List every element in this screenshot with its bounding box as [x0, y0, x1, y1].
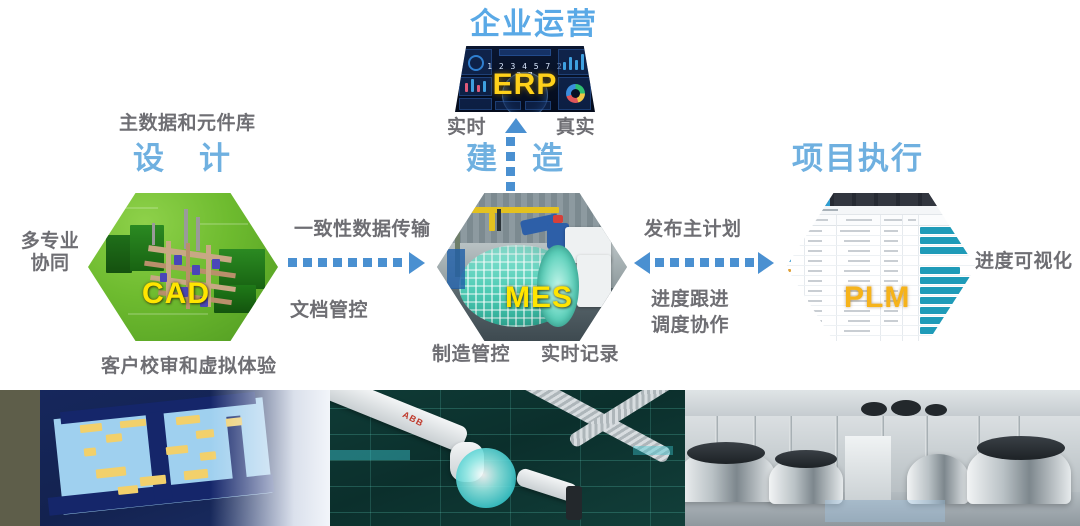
hexagon-plm: PLM	[786, 193, 976, 341]
cad-screen-glare	[210, 390, 330, 526]
erp-widget-bottom-1	[495, 101, 521, 110]
sim-highlight-bar	[330, 450, 410, 460]
label-master-data: 主数据和元件库	[119, 113, 256, 135]
label-consistent-data: 一致性数据传输	[294, 219, 431, 241]
sim-highlight-bar-right	[633, 446, 673, 455]
photo-stainless-steel-tank-workshop	[685, 390, 1080, 526]
plm-gantt-row[interactable]	[786, 266, 976, 276]
plm-gantt-row[interactable]	[786, 326, 976, 336]
label-manufacturing-control: 制造管控	[432, 344, 510, 366]
hexagon-mes: MES	[437, 193, 627, 341]
tank-3	[907, 454, 969, 504]
label-customer-review: 客户校审和虚拟体验	[101, 356, 277, 378]
heading-enterprise-ops: 企业运营	[470, 8, 598, 43]
plm-gantt-row[interactable]	[786, 236, 976, 246]
heading-project-exec: 项目执行	[792, 141, 924, 177]
plm-gantt-row[interactable]	[786, 246, 976, 256]
floor-reflection	[825, 500, 945, 522]
arrow-cad-to-mes-dots	[288, 258, 402, 267]
hex-label-mes: MES	[505, 281, 573, 315]
label-progress-followup: 进度跟进调度协作	[651, 287, 729, 338]
hexagon-cad: CAD	[88, 193, 278, 341]
erp-title-strip	[499, 49, 551, 56]
arrow-mes-plm-dots	[655, 258, 754, 267]
label-doc-control: 文档管控	[290, 300, 368, 322]
control-cabinet	[845, 436, 891, 500]
photo-plant-layout-cad-screen	[0, 390, 330, 526]
photo-strip: ABB	[0, 390, 1080, 526]
plm-column-header	[786, 215, 976, 226]
arrow-up-to-erp	[505, 118, 527, 133]
label-realtime-record: 实时记录	[541, 344, 619, 366]
erp-widget-bottom-2	[525, 101, 551, 110]
plm-tab-4[interactable]	[878, 193, 896, 206]
robot-nozzle	[566, 486, 582, 520]
arrow-mes-to-plm-head	[758, 252, 774, 274]
plm-gantt-row[interactable]	[786, 316, 976, 326]
label-publish-master-plan: 发布主计划	[644, 219, 742, 241]
label-realtime-erp: 实时	[447, 117, 486, 139]
label-progress-visual: 进度可视化	[975, 251, 1073, 273]
photo-abb-robot-arm-simulation: ABB	[330, 390, 685, 526]
label-authentic-erp: 真实	[556, 117, 595, 139]
hex-label-cad: CAD	[142, 277, 210, 311]
arrow-plm-to-mes-head	[634, 252, 650, 274]
plm-breadcrumb-bar	[786, 206, 976, 215]
plm-tab-5[interactable]	[900, 193, 918, 206]
plm-tab-active[interactable]	[812, 193, 830, 206]
plm-tab-3[interactable]	[856, 193, 874, 206]
diagram-canvas: 企业运营 1 2 3 4 5 7 2 3 7	[0, 0, 1080, 526]
robot-tool-disc	[456, 448, 516, 508]
hex-label-plm: PLM	[844, 281, 910, 315]
heading-build: 建 造	[466, 141, 565, 177]
plm-gantt-row[interactable]	[786, 226, 976, 236]
erp-dashboard-panel: 1 2 3 4 5 7 2 3 7 ERP	[455, 46, 595, 112]
arrow-cad-to-mes-head	[409, 252, 425, 274]
plm-tab-6[interactable]	[922, 193, 942, 206]
erp-label: ERP	[455, 68, 595, 102]
label-multi-discipline: 多专业协同	[6, 231, 94, 275]
robot-upper-arm	[330, 390, 469, 453]
plm-gantt-row[interactable]	[786, 256, 976, 266]
heading-design: 设 计	[133, 141, 232, 177]
plm-tab-2[interactable]	[834, 193, 852, 206]
